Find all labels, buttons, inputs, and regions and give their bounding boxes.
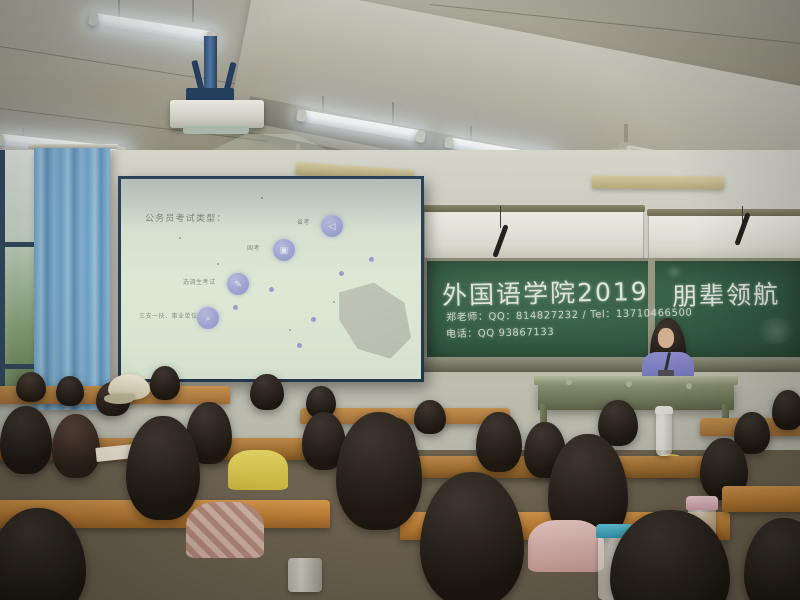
path-dot: [369, 257, 374, 262]
slide-node-4: ⌕: [197, 307, 219, 329]
slide-map-graphic: [328, 269, 421, 372]
slide-node-3: ✎: [227, 273, 249, 295]
student-head: [16, 372, 46, 402]
pen-icon: ✎: [234, 280, 242, 289]
student-head: [0, 406, 52, 474]
screen-speck: [179, 237, 181, 239]
blackboard-contact-line-2: 电话：QQ 93867133: [446, 323, 555, 340]
student-head: [56, 376, 84, 406]
path-dot: [297, 343, 302, 348]
cup-foreground: [288, 558, 322, 592]
slide-node-label-3: 选调生考试: [183, 277, 216, 286]
slide-node-label-4: 三支一扶、事业单位: [139, 311, 198, 320]
projector-lens: [183, 126, 249, 134]
water-bottle-clear: [656, 412, 672, 456]
light-hanger: [392, 102, 394, 124]
path-dot: [269, 287, 274, 292]
student-head: [772, 390, 800, 430]
student-head-closest: [420, 472, 524, 600]
light-hanger: [192, 0, 194, 22]
slide-title: 公务员考试类型：: [145, 211, 227, 224]
student-torso-pink: [528, 520, 604, 572]
student-head: [476, 412, 522, 472]
screen-speck: [261, 197, 263, 199]
slide-node-label-2: 省考: [297, 217, 310, 226]
chalk-smudge: [754, 318, 798, 344]
retractable-screen-left[interactable]: [424, 208, 644, 262]
projection-screen: 公务员考试类型： ▣ 国考 ◁ 省考 ✎ 选调生考试: [118, 176, 424, 382]
baseball-cap-cream-brim: [104, 394, 134, 404]
screen-pull-wire: [500, 206, 501, 228]
slide-surface: 公务员考试类型： ▣ 国考 ◁ 省考 ✎ 选调生考试: [121, 179, 421, 379]
slide-node-label-1: 国考: [247, 243, 260, 252]
ceiling-fan-stem: [624, 124, 628, 144]
audience-area: [0, 360, 800, 600]
search-icon: ⌕: [205, 314, 210, 323]
blackboard: 外国语学院2019 朋辈领航 郑老师：QQ：814827232 / Tel：13…: [424, 258, 800, 360]
frame-icon: ▣: [280, 246, 289, 255]
cursor-icon: ◁: [329, 222, 336, 231]
screen-speck: [217, 263, 219, 265]
student-torso: [228, 450, 288, 490]
valance-board-right: [592, 175, 724, 189]
path-dot: [233, 305, 238, 310]
screen-speck: [333, 301, 335, 303]
bench-row-near: [722, 486, 800, 512]
slide-node-2: ◁: [321, 215, 343, 237]
projector-body: [170, 100, 264, 128]
lecture-hall-photo: 外国语学院2019 朋辈领航 郑老师：QQ：814827232 / Tel：13…: [0, 0, 800, 600]
slide-node-1: ▣: [273, 239, 295, 261]
student-head: [414, 400, 446, 434]
student-head: [52, 414, 100, 478]
student-head: [150, 366, 180, 400]
presenter-face: [658, 328, 674, 348]
student-torso-plaid: [186, 502, 264, 558]
retractable-screen-right[interactable]: [648, 212, 800, 262]
student-head: [250, 374, 284, 410]
student-head-foreground: [126, 416, 200, 520]
path-dot: [339, 271, 344, 276]
water-bottle-pink-cap: [686, 496, 718, 510]
screen-speck: [289, 329, 291, 331]
student-head-closest: [744, 518, 800, 600]
water-bottle-clear-cap: [655, 406, 673, 414]
path-dot: [311, 317, 316, 322]
